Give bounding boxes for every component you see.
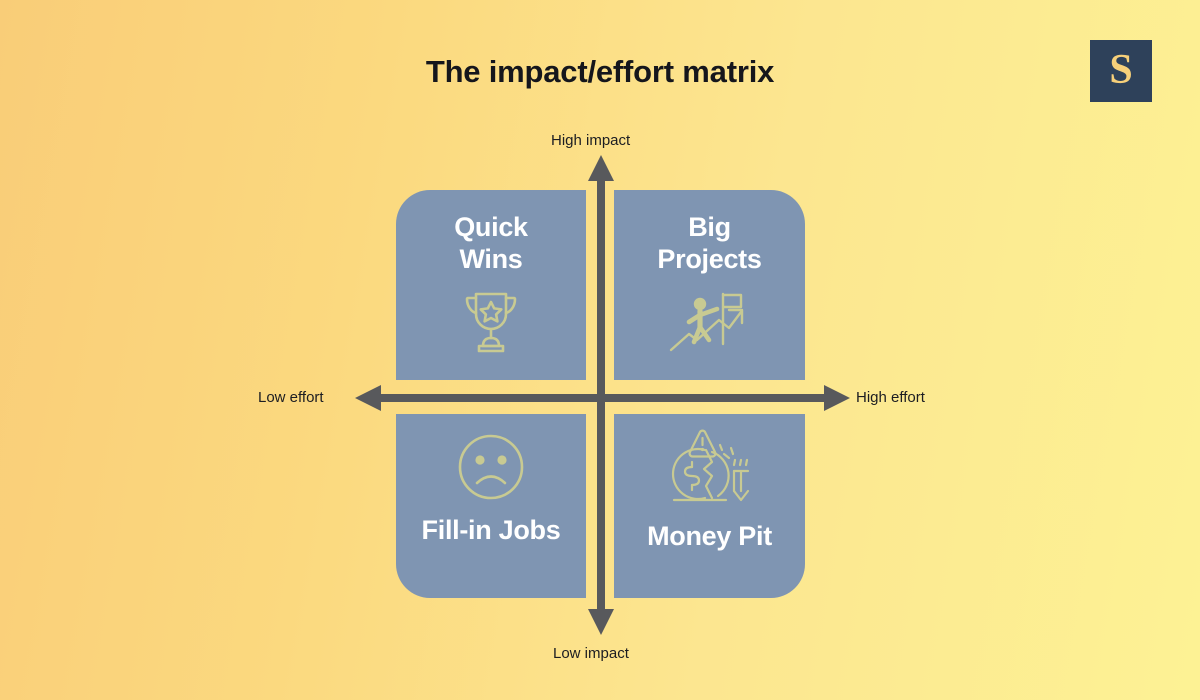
trophy-icon — [453, 282, 529, 363]
axis-label-low-impact: Low impact — [553, 645, 629, 662]
quadrant-label-money-pit: Money Pit — [647, 521, 772, 553]
quadrant-label-line2: Wins — [454, 244, 528, 276]
climbing-person-flag-icon — [667, 282, 753, 363]
broken-coin-down-arrow-icon — [662, 424, 758, 515]
page-title: The impact/effort matrix — [0, 54, 1200, 90]
quadrant-label-line1: Quick — [454, 212, 528, 244]
quadrant-label-quick-wins: Quick Wins — [454, 212, 528, 276]
quadrant-fill-in-jobs[interactable]: Fill-in Jobs — [396, 414, 586, 598]
quadrant-quick-wins[interactable]: Quick Wins — [396, 190, 586, 380]
quadrant-big-projects[interactable]: Big Projects — [614, 190, 805, 380]
axis-label-high-effort: High effort — [856, 389, 925, 406]
quadrant-label-fill-in-jobs: Fill-in Jobs — [422, 515, 561, 547]
quadrant-label-line1: Fill-in Jobs — [422, 515, 561, 547]
matrix-infographic: The impact/effort matrix S High impact L… — [0, 0, 1200, 700]
axis-label-low-effort: Low effort — [258, 389, 324, 406]
quadrant-money-pit[interactable]: Money Pit — [614, 414, 805, 598]
quadrant-label-line1: Money Pit — [647, 521, 772, 553]
brand-logo: S — [1090, 40, 1152, 102]
quadrant-label-big-projects: Big Projects — [657, 212, 761, 276]
brand-logo-letter: S — [1109, 49, 1132, 91]
sad-face-icon — [454, 430, 528, 509]
quadrant-label-line2: Projects — [657, 244, 761, 276]
quadrant-label-line1: Big — [657, 212, 761, 244]
axis-label-high-impact: High impact — [551, 132, 630, 149]
